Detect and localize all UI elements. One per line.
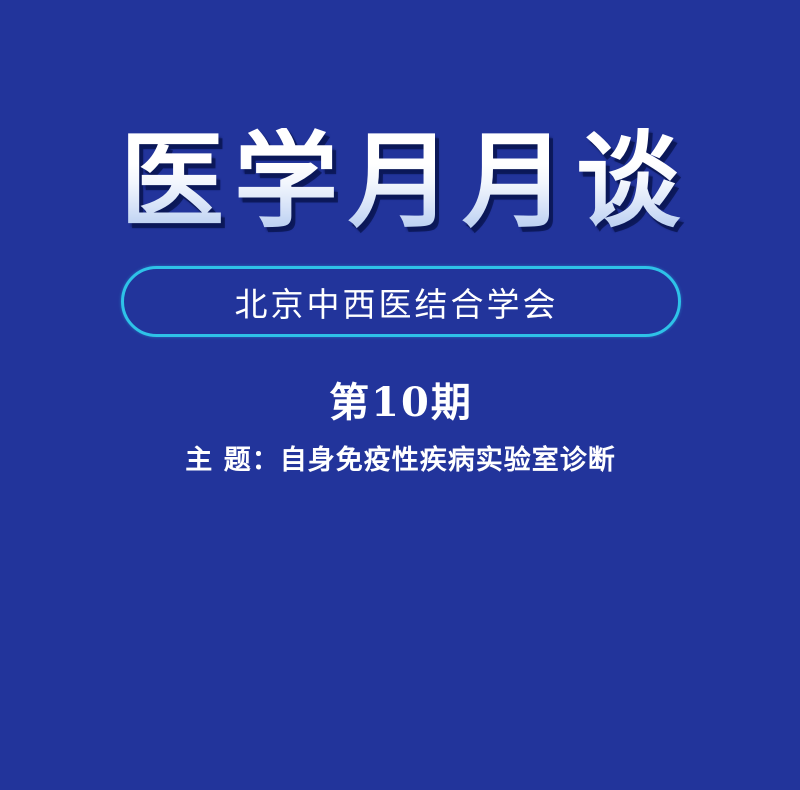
topic-line: 主 题：自身免疫性疾病实验室诊断 xyxy=(0,438,800,477)
empty-lower-area xyxy=(0,500,800,790)
main-title-block: 医学月月谈 医学月月谈 xyxy=(0,128,800,234)
organization-pill: 北京中西医结合学会 xyxy=(121,266,681,337)
poster-background: 医学月月谈 医学月月谈 北京中西医结合学会 第10期 主 题：自身免疫性疾病实验… xyxy=(0,0,800,790)
page-title: 医学月月谈 xyxy=(110,128,690,234)
organization-name: 北京中西医结合学会 xyxy=(232,278,559,326)
issue-number: 第10期 xyxy=(0,370,800,428)
